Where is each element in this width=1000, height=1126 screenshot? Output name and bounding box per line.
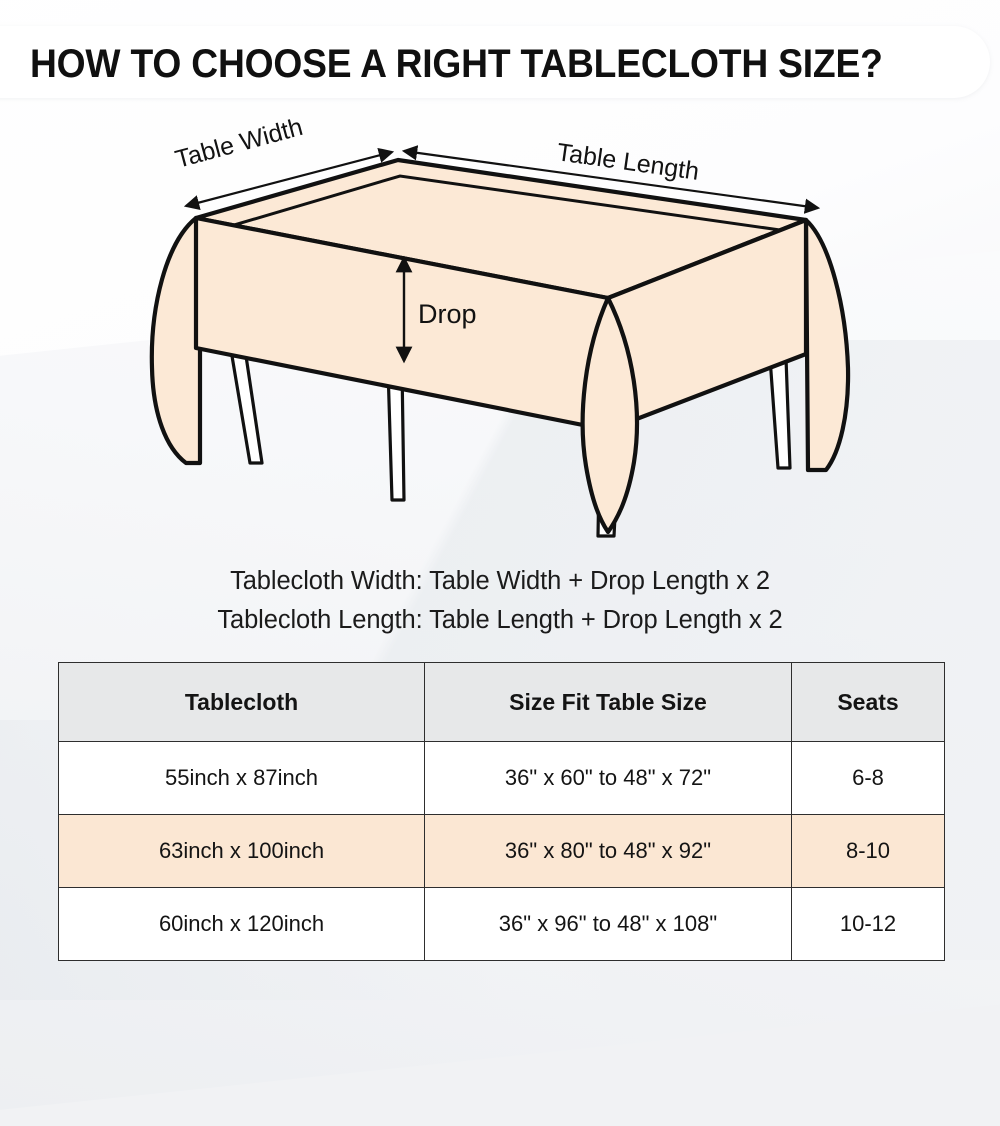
size-table: Tablecloth Size Fit Table Size Seats 55i… [58,662,945,961]
cell-tablecloth: 55inch x 87inch [59,742,425,815]
page-title: HOW TO CHOOSE A RIGHT TABLECLOTH SIZE? [30,38,895,90]
cell-seats: 10-12 [792,888,945,961]
drop-label: Drop [418,299,477,329]
cell-seats: 6-8 [792,742,945,815]
size-chart: Tablecloth Size Fit Table Size Seats 55i… [58,662,944,961]
cell-tablecloth: 60inch x 120inch [59,888,425,961]
cell-size-fit: 36" x 96" to 48" x 108" [425,888,792,961]
column-header-seats: Seats [792,663,945,742]
cell-seats: 8-10 [792,815,945,888]
cloth-drape-left [152,218,200,463]
table-leg-back-left [232,356,262,463]
cell-tablecloth: 63inch x 100inch [59,815,425,888]
formula-width: Tablecloth Width: Table Width + Drop Len… [0,562,1000,601]
formula-length: Tablecloth Length: Table Length + Drop L… [0,601,1000,640]
table-row: 55inch x 87inch 36" x 60" to 48" x 72" 6… [59,742,945,815]
column-header-size-fit: Size Fit Table Size [425,663,792,742]
table-row-highlighted: 63inch x 100inch 36" x 80" to 48" x 92" … [59,815,945,888]
tablecloth-diagram: Table Width Table Length Drop [0,118,1000,553]
table-width-label: Table Width [172,118,305,174]
cell-size-fit: 36" x 60" to 48" x 72" [425,742,792,815]
table-row: 60inch x 120inch 36" x 96" to 48" x 108"… [59,888,945,961]
cloth-drape-right [806,220,848,470]
table-leg-back-right [770,358,790,468]
table-header-row: Tablecloth Size Fit Table Size Seats [59,663,945,742]
cell-size-fit: 36" x 80" to 48" x 92" [425,815,792,888]
table-length-label: Table Length [555,138,701,186]
column-header-tablecloth: Tablecloth [59,663,425,742]
formula-block: Tablecloth Width: Table Width + Drop Len… [0,562,1000,640]
